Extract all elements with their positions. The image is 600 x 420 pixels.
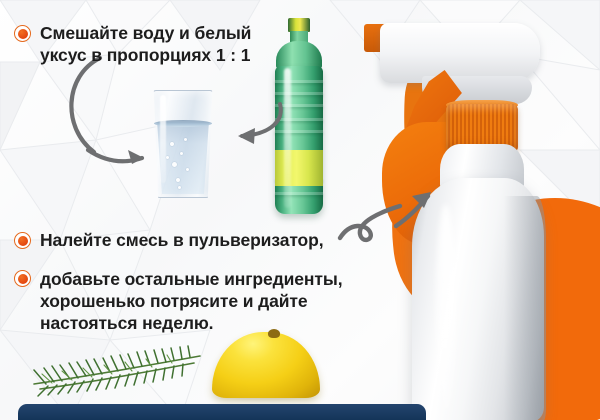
infographic-canvas: Смешайте воду и белый уксус в пропорциях…	[0, 0, 600, 420]
spray-head	[380, 23, 540, 83]
water-bubble	[176, 178, 180, 182]
step-1-text: Смешайте воду и белый уксус в пропорциях…	[40, 22, 251, 66]
bottle-label	[275, 150, 323, 186]
orange-dot-bullet-icon	[14, 232, 31, 249]
spray-bottle-shading	[504, 196, 546, 420]
step-3: добавьте остальные ингредиенты, хорошень…	[14, 268, 344, 334]
step-2-text: Налейте смесь в пульверизатор,	[40, 229, 324, 251]
arrow-bottle-to-glass	[228, 100, 286, 146]
bottle-rib	[275, 92, 323, 95]
bottom-navy-bar	[18, 404, 426, 420]
bottle-cap	[288, 18, 310, 32]
lemon-dome	[212, 332, 320, 398]
squiggle-arrow-to-spray	[336, 186, 448, 248]
water-bubble	[178, 186, 181, 189]
orange-dot-bullet-icon	[14, 25, 31, 42]
step-3-text: добавьте остальные ингредиенты, хорошень…	[40, 268, 342, 334]
step-1: Смешайте воду и белый уксус в пропорциях…	[14, 22, 284, 66]
curved-arrow-to-glass	[58, 52, 188, 172]
bottle-rib	[275, 192, 323, 195]
step-2: Налейте смесь в пульверизатор,	[14, 229, 344, 251]
orange-dot-bullet-icon	[14, 270, 31, 287]
bottle-rib	[275, 80, 323, 83]
lemon-half	[212, 332, 320, 398]
rosemary-sprig	[24, 344, 210, 398]
